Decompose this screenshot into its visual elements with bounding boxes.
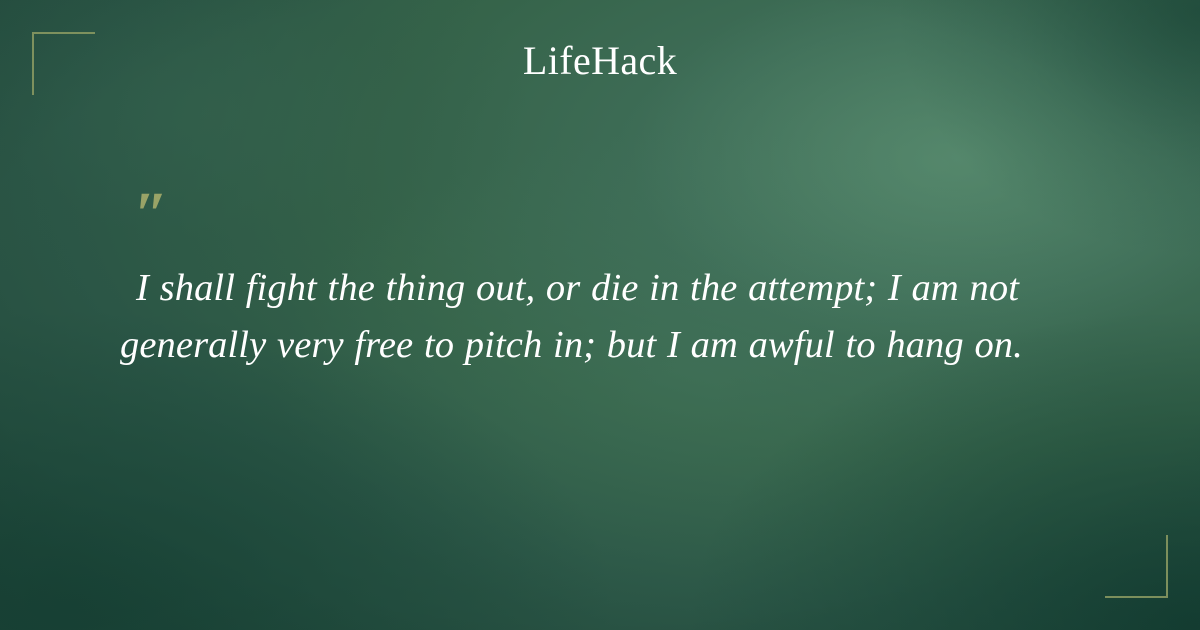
corner-bracket-bottom-right-icon xyxy=(1105,535,1168,598)
open-quote-icon: ″ xyxy=(134,196,1090,234)
quote-card: LifeHack ″ I shall fight the thing out, … xyxy=(0,0,1200,630)
quote-block: ″ I shall fight the thing out, or die in… xyxy=(120,196,1090,374)
quote-text: I shall fight the thing out, or die in t… xyxy=(120,260,1090,374)
brand-header: LifeHack xyxy=(0,0,1200,81)
brand-wordmark: LifeHack xyxy=(523,41,677,81)
